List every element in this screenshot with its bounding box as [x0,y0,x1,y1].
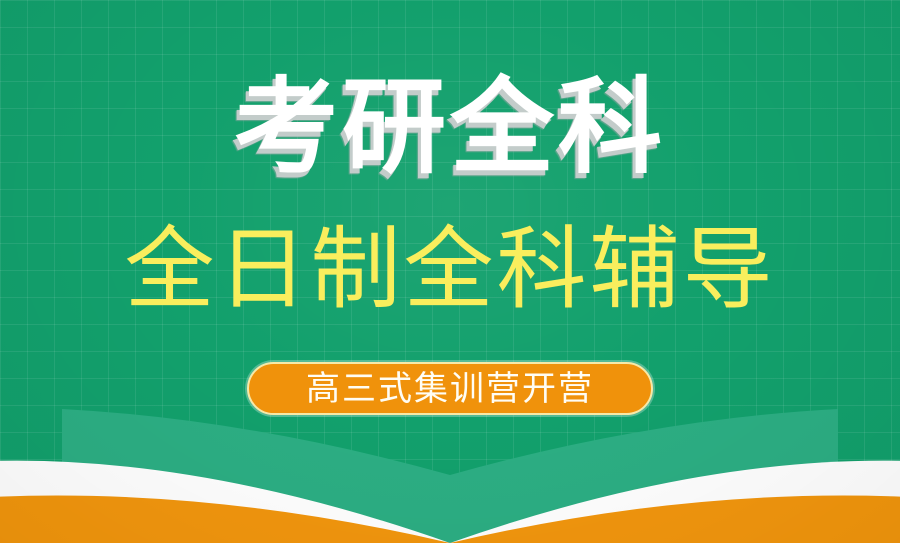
headline-main: 考研全科 [0,72,900,184]
banner-content: 考研全科 全日制全科辅导 高三式集训营开营 [0,0,900,543]
headline-sub: 全日制全科辅导 [0,218,900,322]
campaign-pill-badge[interactable]: 高三式集训营开营 [247,362,653,415]
campaign-pill-label: 高三式集训营开营 [306,372,594,406]
promo-banner: 考研全科 全日制全科辅导 高三式集训营开营 [0,0,900,543]
